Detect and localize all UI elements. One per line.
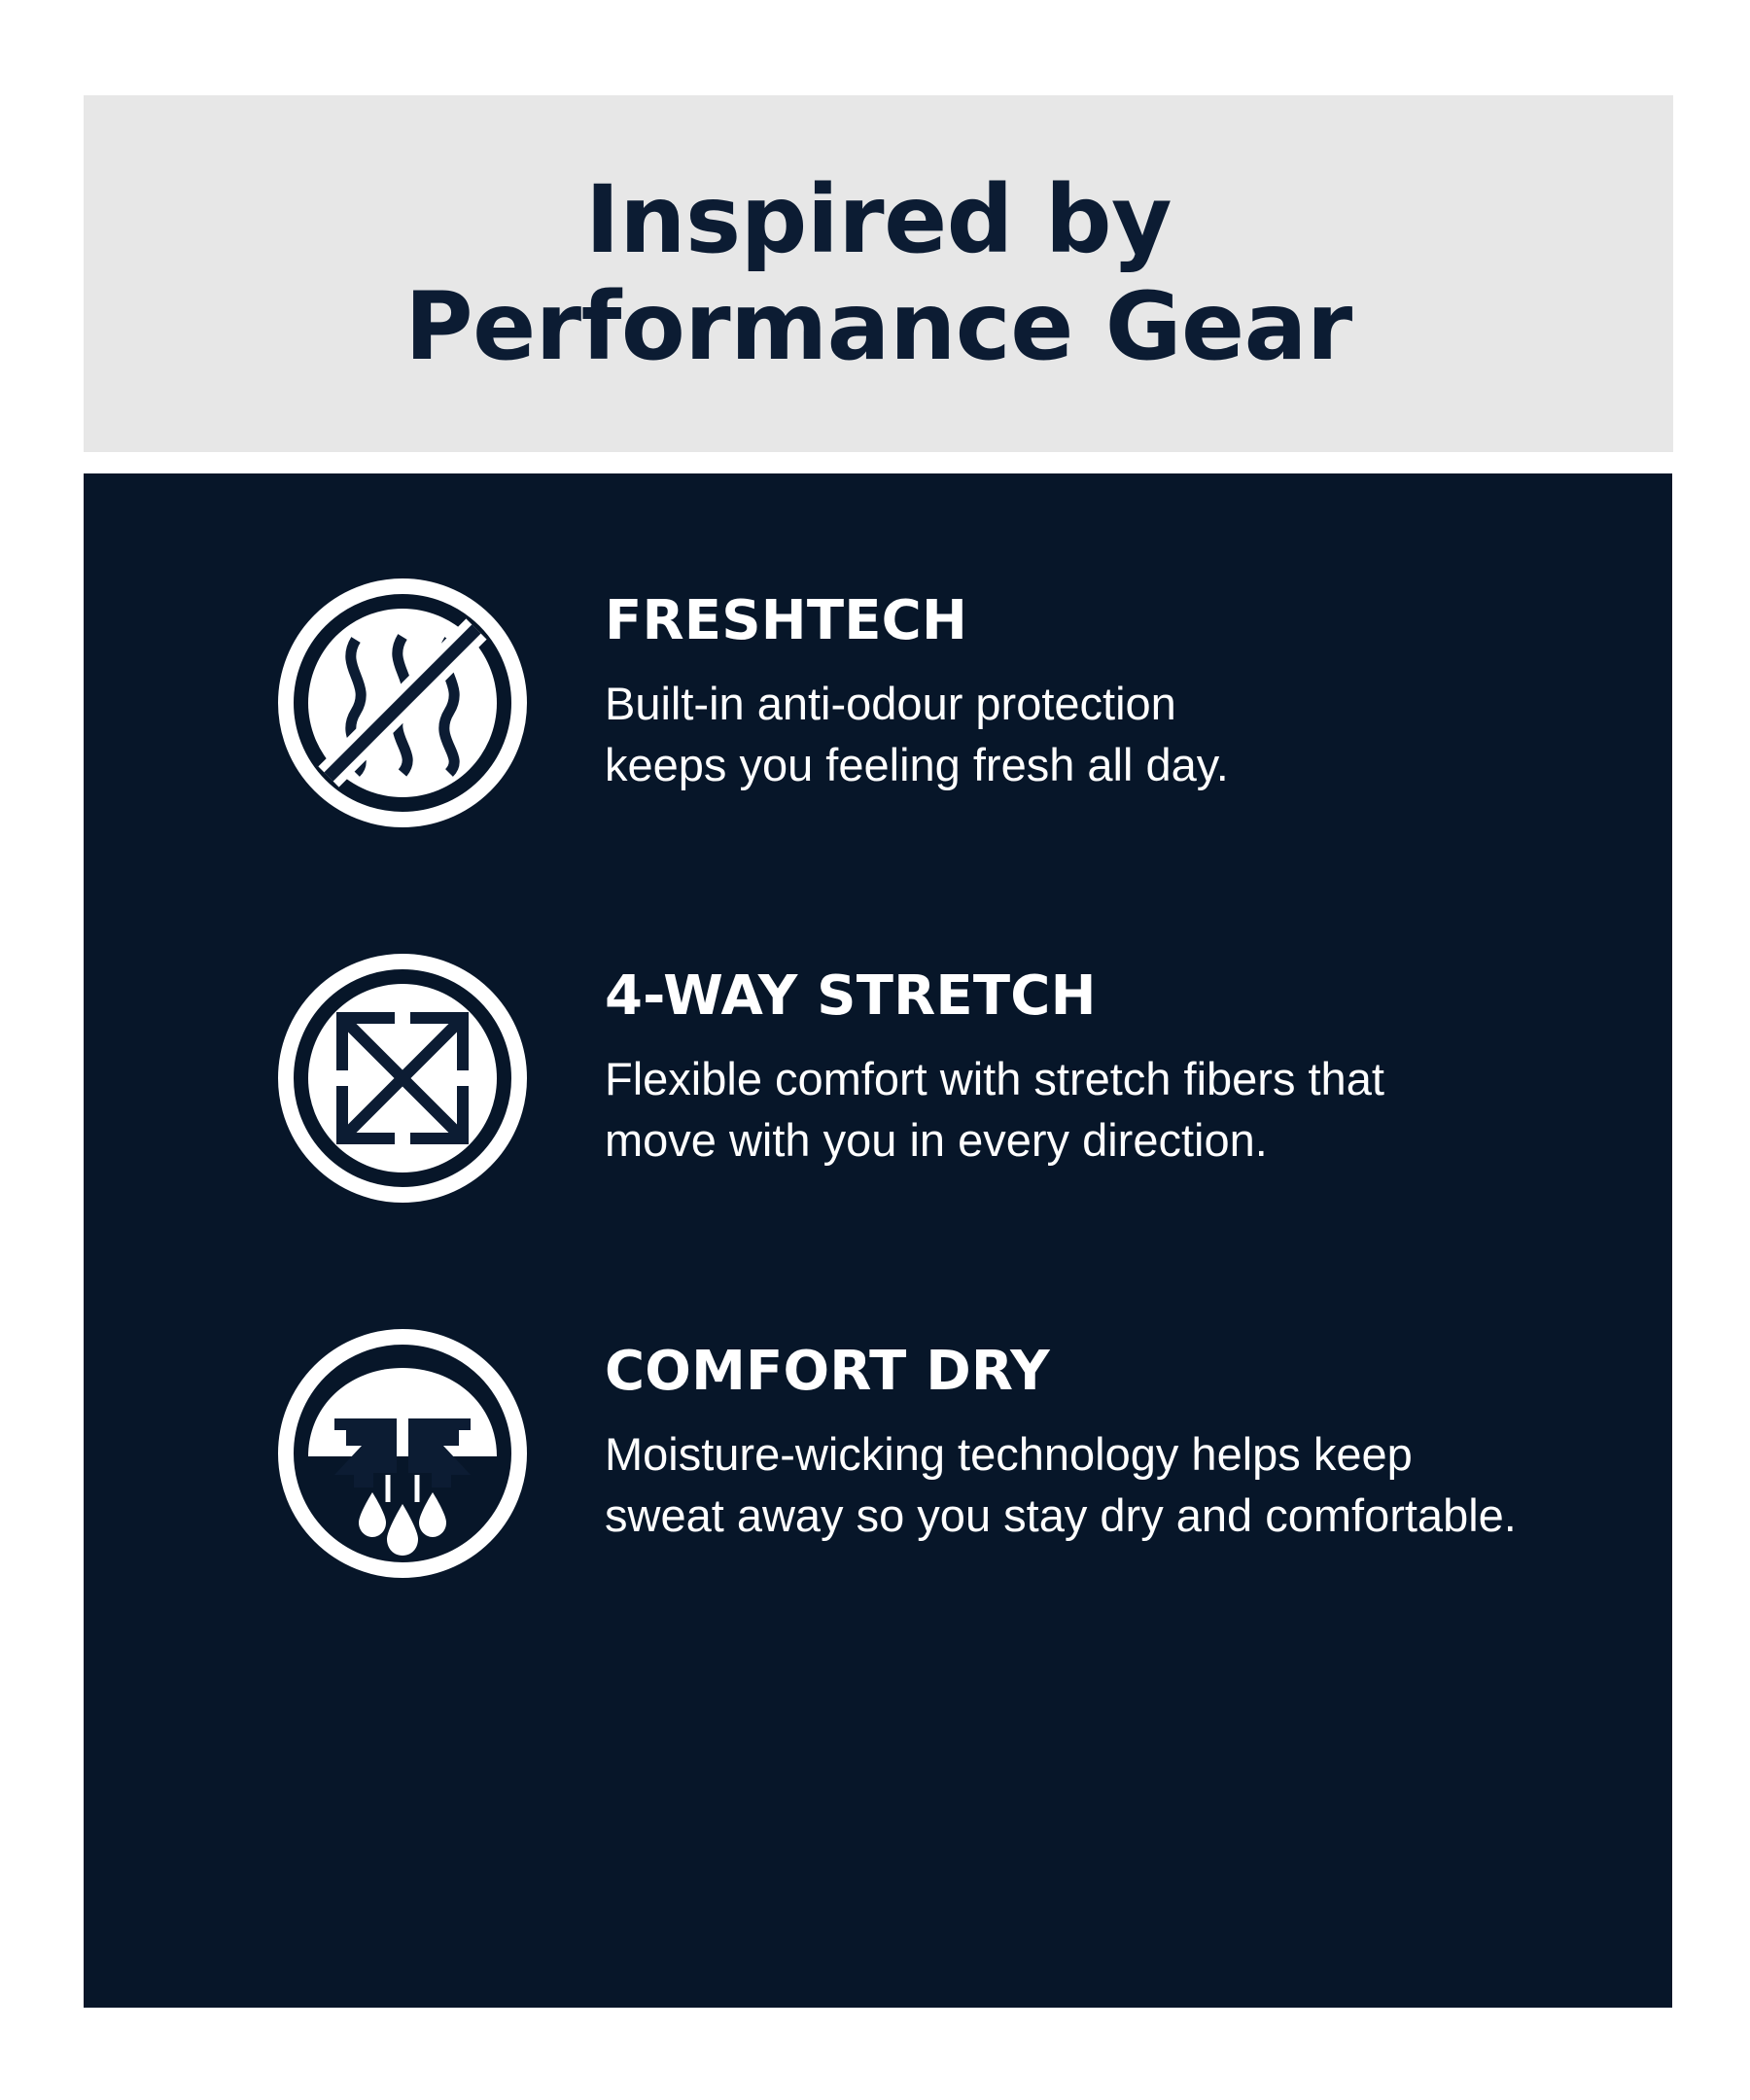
- no-odour-icon: [278, 578, 527, 827]
- moisture-wicking-icon: [278, 1329, 527, 1578]
- infographic-page: Inspired by Performance Gear: [0, 0, 1750, 2100]
- feature-text: 4-WAY STRETCH Flexible comfort with stre…: [605, 954, 1594, 1171]
- feature-row: COMFORT DRY Moisture-wicking technology …: [278, 1329, 1594, 1578]
- feature-panel: FRESHTECH Built-in anti-odour protection…: [84, 473, 1672, 2008]
- feature-body: Moisture-wicking technology helps keep s…: [605, 1424, 1538, 1546]
- page-title: Inspired by Performance Gear: [122, 167, 1634, 380]
- feature-heading: COMFORT DRY: [605, 1345, 1594, 1399]
- feature-text: FRESHTECH Built-in anti-odour protection…: [605, 578, 1594, 795]
- feature-row: 4-WAY STRETCH Flexible comfort with stre…: [278, 954, 1594, 1203]
- feature-body: Built-in anti-odour protection keeps you…: [605, 674, 1305, 795]
- feature-body: Flexible comfort with stretch fibers tha…: [605, 1049, 1485, 1171]
- four-way-stretch-icon: [278, 954, 527, 1203]
- feature-row: FRESHTECH Built-in anti-odour protection…: [278, 578, 1594, 827]
- feature-text: COMFORT DRY Moisture-wicking technology …: [605, 1329, 1594, 1546]
- page-title-line-1: Inspired by: [122, 167, 1634, 273]
- feature-heading: 4-WAY STRETCH: [605, 969, 1594, 1024]
- feature-list: FRESHTECH Built-in anti-odour protection…: [278, 578, 1594, 1578]
- page-title-line-2: Performance Gear: [122, 274, 1634, 380]
- header-band: Inspired by Performance Gear: [84, 95, 1673, 452]
- feature-heading: FRESHTECH: [605, 594, 1594, 648]
